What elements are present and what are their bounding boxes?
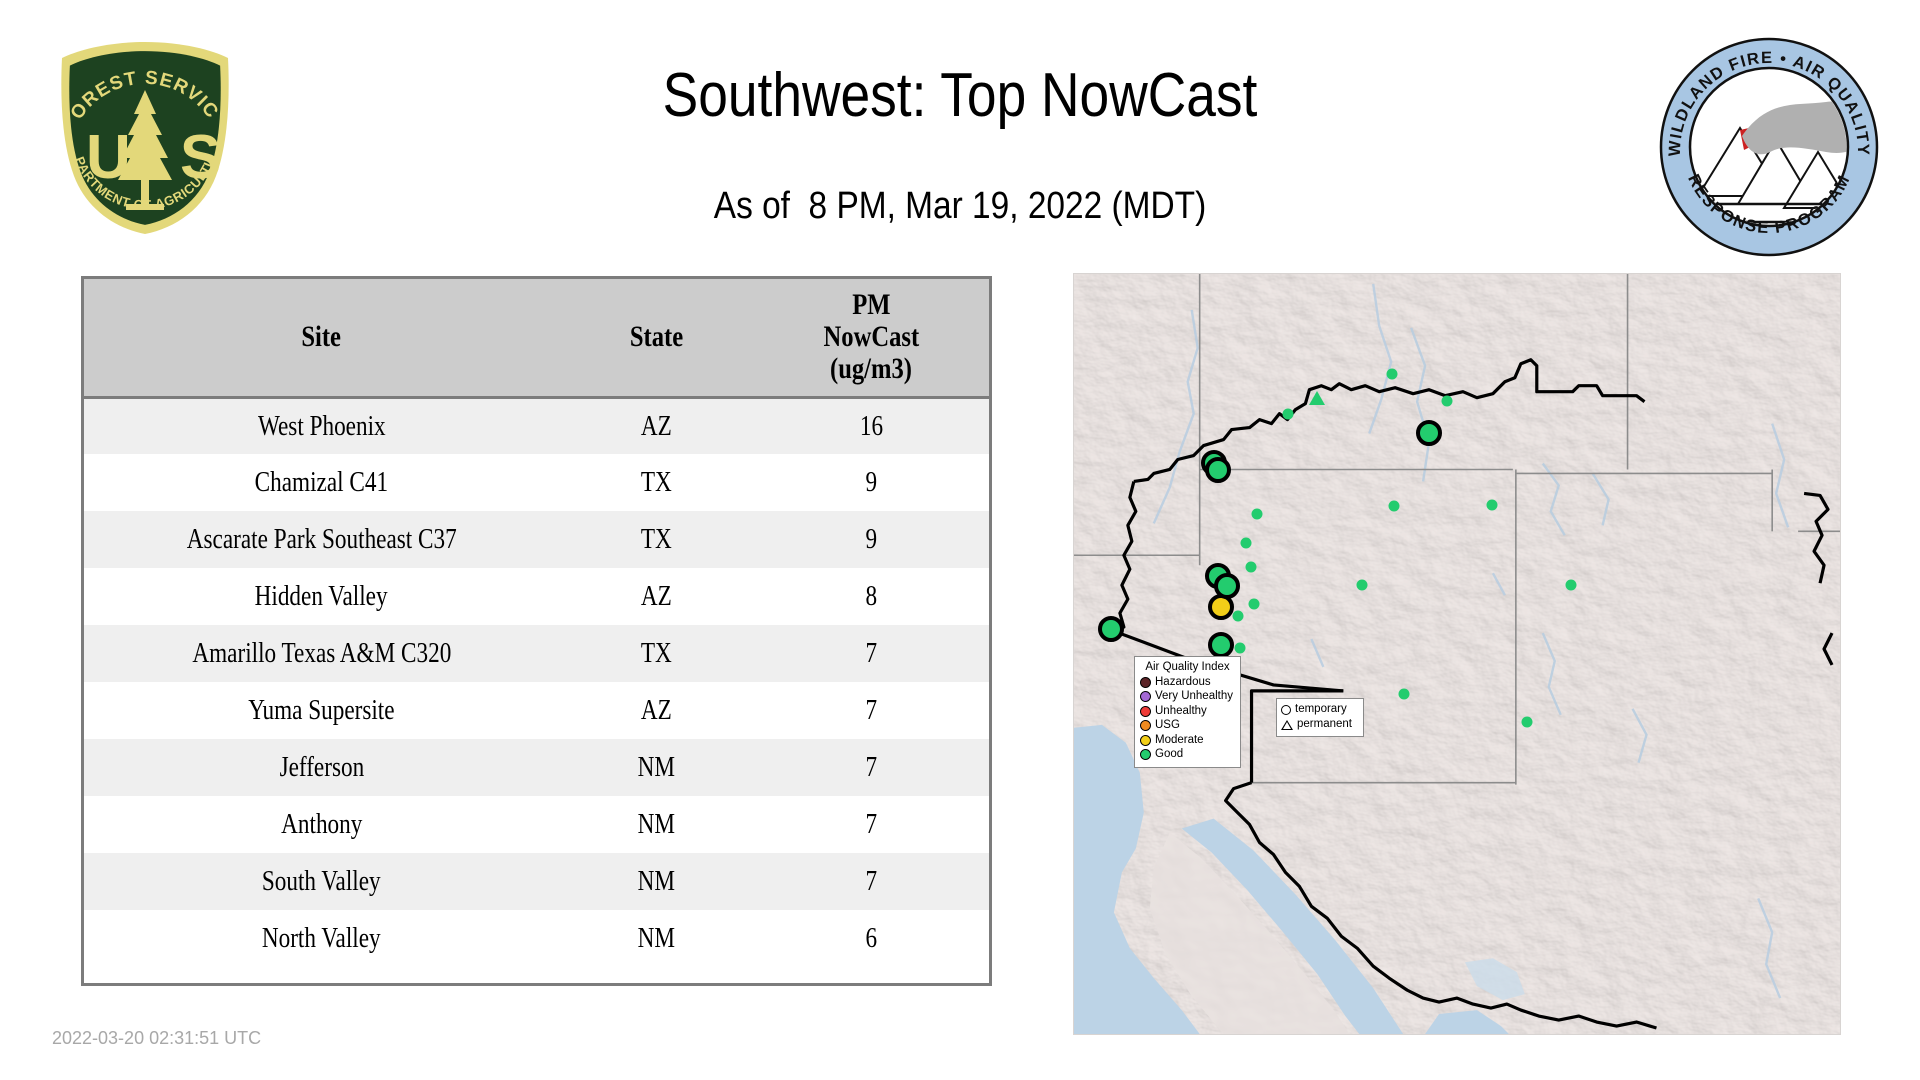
- map-station-marker[interactable]: [1235, 643, 1246, 654]
- cell-site: Jefferson: [84, 739, 559, 796]
- cell-site: South Valley: [84, 853, 559, 910]
- aqi-legend-label: Moderate: [1155, 735, 1204, 747]
- cell-state: AZ: [559, 568, 754, 625]
- page-subtitle: As of 8 PM, Mar 19, 2022 (MDT): [115, 185, 1805, 228]
- aqi-legend-label: Very Unhealthy: [1155, 691, 1233, 703]
- cell-pm-nowcast: 7: [754, 682, 989, 739]
- aqi-legend-row: Moderate: [1140, 733, 1235, 748]
- cell-pm-nowcast: 9: [754, 511, 989, 568]
- cell-pm-nowcast: 8: [754, 568, 989, 625]
- cell-pm-nowcast-text: 9: [866, 466, 878, 499]
- cell-pm-nowcast-text: 7: [866, 808, 878, 841]
- cell-state-text: TX: [641, 466, 672, 499]
- table-row: Yuma SupersiteAZ7: [84, 682, 989, 739]
- cell-state: NM: [559, 796, 754, 853]
- table-row: Chamizal C41TX9: [84, 454, 989, 511]
- table-body: West PhoenixAZ16Chamizal C41TX9Ascarate …: [84, 397, 989, 967]
- cell-pm-nowcast-text: 8: [866, 580, 878, 613]
- footer-timestamp: 2022-03-20 02:31:51 UTC: [52, 1028, 261, 1049]
- cell-pm-nowcast: 7: [754, 796, 989, 853]
- cell-site-text: West Phoenix: [258, 410, 386, 443]
- aqi-legend-label: Unhealthy: [1155, 706, 1207, 718]
- map-station-marker[interactable]: [1389, 501, 1400, 512]
- map-station-marker[interactable]: [1487, 500, 1498, 511]
- cell-site: Yuma Supersite: [84, 682, 559, 739]
- table-row: North ValleyNM6: [84, 910, 989, 967]
- station-type-legend: temporary permanent: [1276, 698, 1364, 737]
- cell-site: Ascarate Park Southeast C37: [84, 511, 559, 568]
- cell-state-text: TX: [641, 523, 672, 556]
- cell-site: Amarillo Texas A&M C320: [84, 625, 559, 682]
- map-station-marker[interactable]: [1416, 420, 1442, 446]
- map-station-marker[interactable]: [1357, 580, 1368, 591]
- table-row: Amarillo Texas A&M C320TX7: [84, 625, 989, 682]
- cell-pm-nowcast-text: 16: [860, 410, 883, 443]
- cell-state-text: AZ: [641, 410, 672, 443]
- cell-pm-nowcast: 7: [754, 853, 989, 910]
- column-header-pm-line1: PM: [852, 289, 890, 321]
- table-row: JeffersonNM7: [84, 739, 989, 796]
- column-header-pm-nowcast: PM NowCast (ug/m3): [754, 279, 989, 397]
- cell-pm-nowcast: 7: [754, 625, 989, 682]
- cell-state-text: NM: [638, 865, 675, 898]
- cell-site-text: Jefferson: [279, 751, 364, 784]
- map-station-marker[interactable]: [1283, 409, 1294, 420]
- cell-site-text: North Valley: [262, 922, 381, 955]
- cell-site-text: Amarillo Texas A&M C320: [192, 637, 451, 670]
- cell-state-text: AZ: [641, 580, 672, 613]
- cell-pm-nowcast-text: 9: [866, 523, 878, 556]
- map-station-marker[interactable]: [1233, 611, 1244, 622]
- cell-state-text: NM: [638, 808, 675, 841]
- nowcast-table-container: Site State PM NowCast (ug/m3) West Phoen…: [81, 276, 992, 986]
- cell-site: Hidden Valley: [84, 568, 559, 625]
- table-row: Ascarate Park Southeast C37TX9: [84, 511, 989, 568]
- cell-site: Anthony: [84, 796, 559, 853]
- column-header-site: Site: [84, 279, 559, 397]
- nowcast-table: Site State PM NowCast (ug/m3) West Phoen…: [84, 279, 989, 967]
- cell-site-text: Anthony: [281, 808, 362, 841]
- map-station-marker[interactable]: [1249, 599, 1260, 610]
- cell-site: West Phoenix: [84, 397, 559, 454]
- temporary-station-icon: [1281, 705, 1291, 715]
- map-station-marker[interactable]: [1252, 509, 1263, 520]
- cell-site-text: Chamizal C41: [255, 466, 388, 499]
- aqi-legend-row: Very Unhealthy: [1140, 690, 1235, 705]
- column-header-pm-line3: (ug/m3): [830, 353, 912, 385]
- map-station-marker[interactable]: [1522, 717, 1533, 728]
- aqi-legend: Air Quality Index HazardousVery Unhealth…: [1134, 656, 1241, 768]
- column-header-state-label: State: [630, 321, 683, 353]
- cell-pm-nowcast: 6: [754, 910, 989, 967]
- map-station-marker[interactable]: [1241, 538, 1252, 549]
- cell-pm-nowcast: 16: [754, 397, 989, 454]
- legend-row-temporary: temporary: [1281, 702, 1358, 717]
- cell-state-text: AZ: [641, 694, 672, 727]
- map-station-marker[interactable]: [1205, 457, 1231, 483]
- table-row: Hidden ValleyAZ8: [84, 568, 989, 625]
- map-station-marker[interactable]: [1098, 616, 1124, 642]
- column-header-state: State: [559, 279, 754, 397]
- cell-state: TX: [559, 454, 754, 511]
- map-station-marker[interactable]: [1214, 573, 1240, 599]
- cell-state: NM: [559, 739, 754, 796]
- map-station-marker[interactable]: [1399, 689, 1410, 700]
- table-row: South ValleyNM7: [84, 853, 989, 910]
- cell-state: NM: [559, 853, 754, 910]
- map-station-marker[interactable]: [1246, 562, 1257, 573]
- map-station-marker[interactable]: [1387, 369, 1398, 380]
- cell-state-text: NM: [638, 922, 675, 955]
- cell-site-text: Hidden Valley: [255, 580, 388, 613]
- cell-pm-nowcast-text: 7: [866, 751, 878, 784]
- map-station-marker[interactable]: [1442, 396, 1453, 407]
- cell-state: TX: [559, 511, 754, 568]
- aqi-legend-row: Good: [1140, 748, 1235, 763]
- aqi-legend-row: Hazardous: [1140, 675, 1235, 690]
- aqi-swatch-icon: [1140, 677, 1151, 688]
- table-row: West PhoenixAZ16: [84, 397, 989, 454]
- nowcast-report-page: FOREST SERVICE U S DEPARTMENT OF AGRICUL…: [0, 0, 1920, 1080]
- cell-state: AZ: [559, 682, 754, 739]
- aqi-swatch-icon: [1140, 706, 1151, 717]
- aqi-legend-label: Good: [1155, 749, 1183, 761]
- air-quality-map[interactable]: Air Quality Index HazardousVery Unhealth…: [1073, 273, 1841, 1035]
- cell-state: TX: [559, 625, 754, 682]
- permanent-station-icon: [1281, 720, 1293, 730]
- aqi-swatch-icon: [1140, 691, 1151, 702]
- cell-pm-nowcast-text: 7: [866, 865, 878, 898]
- table-header: Site State PM NowCast (ug/m3): [84, 279, 989, 397]
- aqi-legend-row: Unhealthy: [1140, 704, 1235, 719]
- legend-label-temporary: temporary: [1295, 704, 1347, 716]
- column-header-pm-line2: NowCast: [824, 321, 920, 353]
- cell-state: AZ: [559, 397, 754, 454]
- cell-state: NM: [559, 910, 754, 967]
- cell-state-text: TX: [641, 637, 672, 670]
- legend-label-permanent: permanent: [1297, 719, 1352, 731]
- map-station-marker-permanent[interactable]: [1309, 391, 1325, 405]
- cell-pm-nowcast-text: 7: [866, 637, 878, 670]
- cell-site: Chamizal C41: [84, 454, 559, 511]
- page-title: Southwest: Top NowCast: [134, 60, 1785, 131]
- aqi-legend-label: Hazardous: [1155, 677, 1211, 689]
- map-basemap: [1074, 274, 1840, 1034]
- cell-site-text: Ascarate Park Southeast C37: [187, 523, 457, 556]
- aqi-legend-row: USG: [1140, 719, 1235, 734]
- cell-pm-nowcast-text: 7: [866, 694, 878, 727]
- aqi-swatch-icon: [1140, 735, 1151, 746]
- cell-site-text: South Valley: [262, 865, 381, 898]
- cell-state-text: NM: [638, 751, 675, 784]
- legend-row-permanent: permanent: [1281, 717, 1358, 732]
- cell-site: North Valley: [84, 910, 559, 967]
- aqi-legend-label: USG: [1155, 720, 1180, 732]
- cell-pm-nowcast-text: 6: [866, 922, 878, 955]
- aqi-swatch-icon: [1140, 720, 1151, 731]
- table-header-row: Site State PM NowCast (ug/m3): [84, 279, 989, 397]
- wfaqrp-circular-logo: WILDLAND FIRE • AIR QUALITY RESPONSE PRO…: [1658, 36, 1880, 258]
- aqi-legend-title: Air Quality Index: [1140, 661, 1235, 673]
- aqi-swatch-icon: [1140, 749, 1151, 760]
- cell-pm-nowcast: 7: [754, 739, 989, 796]
- map-station-marker[interactable]: [1208, 632, 1234, 658]
- cell-site-text: Yuma Supersite: [248, 694, 394, 727]
- table-row: AnthonyNM7: [84, 796, 989, 853]
- map-station-marker[interactable]: [1566, 580, 1577, 591]
- column-header-site-label: Site: [302, 321, 342, 353]
- cell-pm-nowcast: 9: [754, 454, 989, 511]
